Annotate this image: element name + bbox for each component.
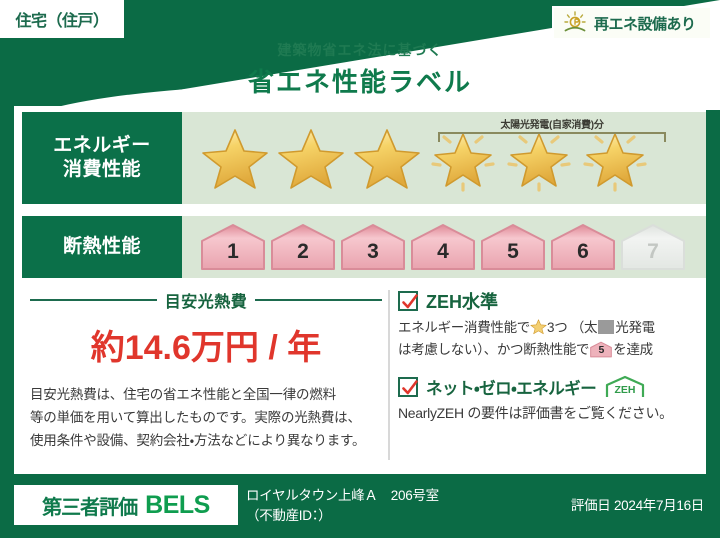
zeh-netzero-note: NearlyZEH の要件は評価書をご覧ください。 — [398, 403, 696, 423]
building-type-label: 住宅（住戸） — [15, 7, 108, 31]
inline-star-icon — [530, 318, 547, 335]
zeh-netzero-item: ネット・ゼロ・エネルギー ZEH NearlyZEH の要件は評価書をご覧くださ… — [398, 375, 696, 423]
renewable-energy-badge: 再エネ設備あり — [552, 6, 712, 40]
insulation-performance-label: 断熱性能 — [22, 216, 182, 278]
heading-rule-right — [255, 299, 382, 301]
label-footer: 第三者評価 BELS ロイヤルタウン上峰Ａ 206号室 （不動産ID：） 評価日… — [0, 478, 720, 538]
insulation-level-4: 4 — [410, 223, 476, 271]
property-info: ロイヤルタウン上峰Ａ 206号室 （不動産ID：） — [246, 486, 439, 525]
zeh-standard-body: エネルギー消費性能で 3つ （太光発電 は考慮しない）、かつ断熱性能で 5を達成 — [398, 317, 696, 361]
energy-performance-row: エネルギー 消費性能 太陽光発電(自家消費)分 — [14, 112, 706, 204]
energy-star-2 — [276, 124, 346, 192]
building-type-tag: 住宅（住戸） — [0, 0, 124, 38]
insulation-level-6-value: 6 — [577, 240, 589, 271]
energy-performance-field: 太陽光発電(自家消費)分 — [182, 112, 706, 204]
evaluation-date: 評価日 2024年7月16日 — [571, 494, 704, 514]
zeh-netzero-title: ネット・ゼロ・エネルギー — [426, 375, 596, 399]
property-name: ロイヤルタウン上峰Ａ 206号室 — [246, 486, 439, 506]
svg-text:ZEH: ZEH — [615, 384, 636, 396]
utility-cost-note-line1: 目安光熱費は、住宅の省エネ性能と全国一律の燃料 — [30, 383, 382, 406]
check-icon — [401, 293, 419, 311]
zeh-standard-checkbox[interactable] — [398, 291, 418, 311]
inline-insulation-badge-value: 5 — [590, 342, 612, 359]
bels-logo-text: BELS — [145, 491, 210, 520]
energy-performance-label: エネルギー 消費性能 — [22, 112, 182, 204]
insulation-level-4-value: 4 — [437, 240, 449, 271]
utility-cost-block: 目安光熱費 約14.6万円 / 年 目安光熱費は、住宅の省エネ性能と全国一律の燃… — [30, 288, 382, 453]
energy-star-1 — [200, 124, 270, 192]
check-icon — [401, 379, 419, 397]
insulation-level-6: 6 — [550, 223, 616, 271]
title-subtitle: 建築物省エネ法に基づく — [0, 40, 720, 60]
zeh-standard-body-3: は考慮しない）、かつ断熱性能で — [398, 342, 589, 357]
zeh-standard-body-2: 光発電 — [615, 320, 655, 335]
property-id: （不動産ID：） — [246, 506, 439, 526]
insulation-label-text: 断熱性能 — [63, 235, 141, 259]
insulation-level-3-value: 3 — [367, 240, 379, 271]
zeh-house-logo-icon: ZEH — [604, 375, 646, 399]
zeh-standard-title: ZEH水準 — [426, 288, 498, 314]
insulation-level-2: 2 — [270, 223, 336, 271]
insulation-level-7: 7 — [620, 223, 686, 271]
renewable-badge-label: 再エネ設備あり — [594, 13, 696, 34]
zeh-standard-item: ZEH水準 エネルギー消費性能で 3つ （太光発電 は考慮しない）、かつ断熱性能… — [398, 288, 696, 361]
heading-rule-left — [30, 299, 157, 301]
zeh-netzero-title-row: ネット・ゼロ・エネルギー ZEH — [398, 375, 696, 399]
title-main: 省エネ性能ラベル — [0, 62, 720, 99]
energy-label-line2: 消費性能 — [63, 158, 141, 182]
energy-label-line1: エネルギー — [53, 134, 151, 158]
zeh-standard-body-4: を達成 — [613, 342, 653, 357]
insulation-performance-field: 1 2 3 — [182, 216, 706, 278]
zeh-netzero-checkbox[interactable] — [398, 377, 418, 397]
inline-insulation-badge: 5 — [590, 341, 612, 358]
solar-bracket-label: 太陽光発電(自家消費)分 — [436, 116, 668, 131]
zeh-standard-star-count: 3つ （太 — [547, 320, 597, 335]
insulation-level-5: 5 — [480, 223, 546, 271]
insulation-performance-row: 断熱性能 — [14, 216, 706, 278]
solar-bracket-line — [438, 132, 666, 142]
insulation-level-1: 1 — [200, 223, 266, 271]
utility-cost-note: 目安光熱費は、住宅の省エネ性能と全国一律の燃料 等の単価を用いて算出したものです… — [30, 383, 382, 453]
zeh-standard-title-row: ZEH水準 — [398, 288, 696, 314]
zeh-standard-body-1: エネルギー消費性能で — [398, 320, 530, 335]
solar-generation-bracket: 太陽光発電(自家消費)分 — [436, 118, 668, 144]
third-party-label: 第三者評価 — [42, 491, 137, 520]
utility-cost-heading: 目安光熱費 — [30, 288, 382, 312]
zeh-block: ZEH水準 エネルギー消費性能で 3つ （太光発電 は考慮しない）、かつ断熱性能… — [398, 288, 696, 427]
energy-label-root: 住宅（住戸） 再エネ設備あり 建築物省エネ法に基づく 省エネ性能ラベル — [0, 0, 720, 538]
utility-cost-heading-text: 目安光熱費 — [165, 288, 248, 312]
insulation-level-1-value: 1 — [227, 240, 239, 271]
insulation-level-scale: 1 2 3 — [182, 223, 686, 271]
energy-star-3 — [352, 124, 422, 192]
bels-certification-box: 第三者評価 BELS — [14, 485, 238, 525]
insulation-level-3: 3 — [340, 223, 406, 271]
redacted-text-block — [598, 320, 614, 334]
solar-sun-icon — [562, 11, 588, 35]
label-body: エネルギー 消費性能 太陽光発電(自家消費)分 — [14, 106, 706, 474]
utility-cost-value: 約14.6万円 / 年 — [30, 320, 382, 369]
insulation-level-7-value: 7 — [647, 240, 659, 271]
section-divider — [388, 290, 390, 460]
insulation-level-5-value: 5 — [507, 240, 519, 271]
utility-cost-note-line3: 使用条件や設備、契約会社・方法などにより異なります。 — [30, 429, 382, 452]
utility-cost-note-line2: 等の単価を用いて算出したものです。実際の光熱費は、 — [30, 406, 382, 429]
label-title: 建築物省エネ法に基づく 省エネ性能ラベル — [0, 40, 720, 99]
insulation-level-2-value: 2 — [297, 240, 309, 271]
